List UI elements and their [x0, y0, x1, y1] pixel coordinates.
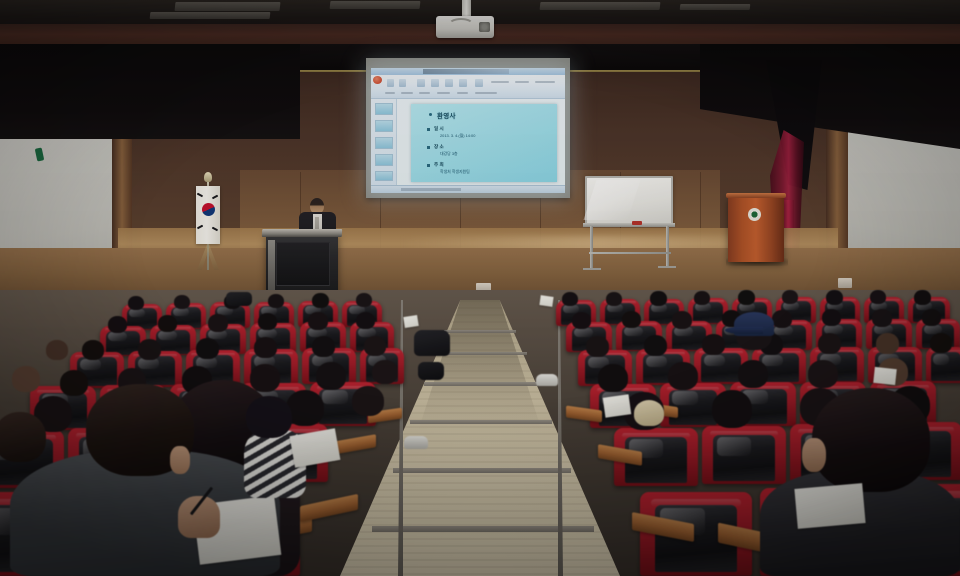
attendee-head [870, 290, 886, 304]
projection-screen: 환영사 일 시 2013. 3. 4.(월) 14:00 장 소 대강당 3층 … [371, 68, 565, 193]
attendee-head [12, 366, 40, 392]
ribbon-label [419, 92, 430, 94]
wooden-lectern [728, 196, 784, 262]
attendee-head [650, 291, 667, 306]
whiteboard-crossbar [589, 252, 671, 254]
whiteboard-marker-tray [583, 223, 675, 227]
handout-paper [794, 483, 865, 529]
slide-item-detail: 학생처 학생지원팀 [440, 169, 470, 175]
attendee-head [572, 312, 591, 329]
whiteboard-leg [666, 226, 669, 268]
attendee-head [808, 360, 838, 388]
attendee-head [822, 309, 841, 326]
attendee-head [712, 390, 752, 428]
attendee-head [818, 333, 841, 354]
ribbon-icon [399, 79, 406, 87]
auditorium-photo: 환영사 일 시 2013. 3. 4.(월) 14:00 장 소 대강당 3층 … [0, 0, 960, 576]
attendee-head [356, 312, 375, 329]
baseball-cap [734, 312, 774, 336]
attendee-head [372, 360, 398, 384]
note-paper [539, 295, 553, 307]
attendee-head [108, 316, 127, 333]
attendee-head [876, 333, 899, 354]
attendee-head [914, 290, 931, 305]
left-stage-curtain [0, 44, 300, 139]
ribbon-label [535, 81, 555, 83]
ribbon-label [457, 92, 468, 94]
slide-bullet-icon [427, 146, 430, 149]
shoe [536, 374, 558, 386]
attendee-head [622, 311, 641, 328]
whiteboard-foot [658, 266, 676, 268]
attendee-head [174, 295, 190, 309]
ribbon-icon [459, 79, 467, 87]
attendee-head [922, 309, 941, 326]
projector-lens [479, 22, 490, 32]
current-slide: 환영사 일 시 2013. 3. 4.(월) 14:00 장 소 대강당 3층 … [411, 104, 557, 182]
attendee-head [258, 313, 277, 330]
slide-thumbnail[interactable] [375, 137, 393, 149]
presentation-status-text [401, 188, 461, 191]
attendee-head [364, 336, 386, 356]
attendee-head [196, 338, 219, 359]
seat [702, 426, 786, 484]
attendee-ear [170, 446, 190, 474]
note-paper [873, 367, 897, 385]
podium-side-strip [268, 240, 275, 292]
aisle-step-edge [424, 382, 538, 386]
slide-thumbnail[interactable] [375, 154, 393, 166]
ceiling-light-panel [150, 12, 271, 19]
podium-front-panel [276, 242, 330, 286]
attendee-head [128, 296, 144, 310]
attendee-head [672, 311, 692, 329]
office-orb-icon [373, 76, 382, 84]
slide-bullet-icon [427, 128, 430, 131]
attendee-head [246, 396, 292, 438]
ceiling-light-panel [330, 1, 421, 9]
attendee-head [694, 291, 710, 305]
slide-thumbnail[interactable] [375, 120, 393, 132]
ribbon-label [515, 81, 529, 83]
podium-desktop [262, 229, 342, 237]
note-paper [603, 394, 632, 417]
slide-title-bullet-icon [429, 113, 432, 116]
whiteboard-leg [590, 226, 593, 270]
attendee-head [60, 370, 88, 396]
ceiling-light-panel [175, 2, 281, 11]
aisle-step-edge [444, 330, 516, 333]
attendee-head [812, 388, 930, 492]
attendee-head [250, 364, 280, 392]
attendee-head [782, 290, 798, 304]
ribbon-icon [417, 79, 425, 87]
attendee-head [872, 309, 892, 327]
slide-item-detail: 2013. 3. 4.(월) 14:00 [440, 133, 475, 139]
attendee-head [308, 312, 328, 330]
slide-thumbnail[interactable] [375, 103, 393, 115]
bag [418, 362, 444, 380]
ribbon-label [491, 81, 509, 83]
attendee-head [254, 337, 277, 358]
slide-item-label: 주 최 [434, 162, 444, 168]
attendee-head [738, 290, 755, 305]
presentation-window-title [423, 69, 509, 74]
aisle-step-edge [393, 468, 571, 473]
attendee-head [356, 293, 372, 307]
attendee-head [158, 315, 177, 332]
slide-bullet-icon [427, 164, 430, 167]
ribbon-label [437, 92, 450, 94]
attendee-head [826, 290, 843, 305]
note-paper [403, 315, 419, 328]
attendee-head [312, 336, 335, 357]
institution-emblem-icon [748, 208, 761, 221]
ribbon-label [401, 92, 413, 94]
attendee-head [606, 292, 622, 306]
slide-item-label: 일 시 [434, 126, 444, 132]
attendee-head [644, 335, 667, 356]
slide-item-detail: 대강당 3층 [440, 151, 458, 157]
attendee-head [208, 314, 228, 332]
ceiling-light-panel [680, 4, 751, 10]
ceiling-light-panel [540, 2, 661, 10]
slide-thumbnail[interactable] [375, 171, 393, 181]
shoe [404, 436, 428, 449]
aisle-step-edge [410, 420, 552, 424]
attendee-head [46, 340, 68, 360]
attendee-ear [802, 438, 826, 472]
tote-bag [634, 400, 664, 426]
whiteboard-foot [583, 268, 601, 270]
attendee-head [598, 364, 628, 392]
attendee-head [138, 339, 161, 360]
bag [226, 292, 252, 306]
lectern-top-surface [726, 193, 786, 198]
attendee-head [0, 412, 46, 462]
projector-cable [448, 18, 474, 32]
attendee-head [930, 333, 952, 353]
attendee-head [738, 360, 768, 388]
slide-thumbnail-pane[interactable] [371, 99, 397, 185]
attendee-head [268, 294, 284, 308]
attendee-head [312, 293, 329, 308]
slide-heading: 환영사 [437, 110, 456, 120]
attendee-head [352, 386, 384, 416]
ribbon-icon [475, 79, 483, 87]
attendee-head [586, 336, 609, 357]
ribbon-icon [445, 79, 453, 87]
whiteboard-marker [632, 221, 642, 225]
ribbon-label [385, 92, 395, 94]
ribbon-icon [387, 79, 394, 87]
attendee-head [562, 292, 578, 306]
ribbon-icon [431, 79, 439, 87]
attendee-head [702, 334, 725, 355]
attendee-head [82, 340, 104, 360]
attendee-head [772, 310, 792, 328]
wall-outlet [838, 278, 852, 288]
backpack [414, 330, 450, 356]
flag-finial [204, 172, 212, 182]
attendee-head [668, 362, 698, 390]
ribbon-label [475, 92, 497, 94]
attendee-head [316, 362, 346, 390]
slide-item-label: 장 소 [434, 144, 444, 150]
